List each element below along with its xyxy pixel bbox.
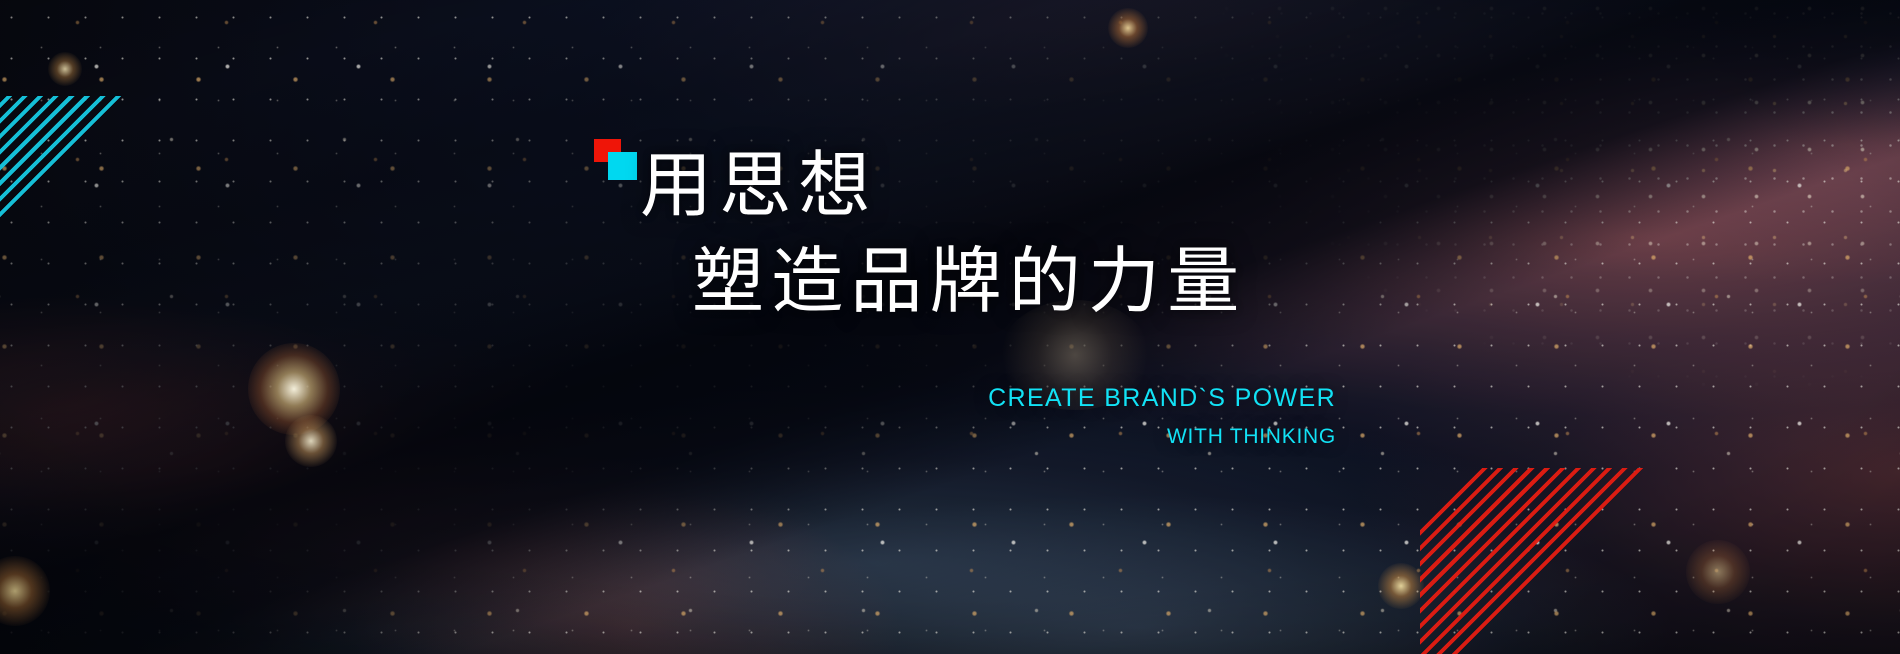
glow-star-upper-center xyxy=(1108,8,1148,48)
headline-line-2: 塑造品牌的力量 xyxy=(692,246,1900,318)
nebula-left-tendrils xyxy=(0,0,1900,654)
vignette-overlay xyxy=(0,0,1900,654)
starfield-small xyxy=(0,0,1900,654)
headline-line-1: 用思想 xyxy=(640,150,1900,222)
starfield-medium xyxy=(0,0,1900,654)
subtitle: CREATE BRAND`S POWER WITH THINKING xyxy=(0,384,1336,449)
headline: 用思想 塑造品牌的力量 xyxy=(0,150,1900,318)
dust-lane-secondary xyxy=(0,0,1900,654)
glow-star-bottom-center xyxy=(1378,563,1424,609)
starfield-warm xyxy=(0,0,1900,654)
nebula-red-clouds xyxy=(0,0,1900,654)
nebula-teal-haze xyxy=(0,0,1900,654)
glow-star-bottom-right-warm xyxy=(1686,540,1750,604)
glow-star-top-left xyxy=(48,52,82,86)
red-diagonal-stripes xyxy=(1420,468,1900,654)
hero-banner: 用思想 塑造品牌的力量 CREATE BRAND`S POWER WITH TH… xyxy=(0,0,1900,654)
subtitle-line-2: WITH THINKING xyxy=(0,425,1336,449)
glow-star-bottom-left xyxy=(0,556,50,626)
background-base xyxy=(0,0,1900,654)
dust-lane-primary xyxy=(0,0,1900,654)
subtitle-line-1: CREATE BRAND`S POWER xyxy=(0,384,1336,413)
